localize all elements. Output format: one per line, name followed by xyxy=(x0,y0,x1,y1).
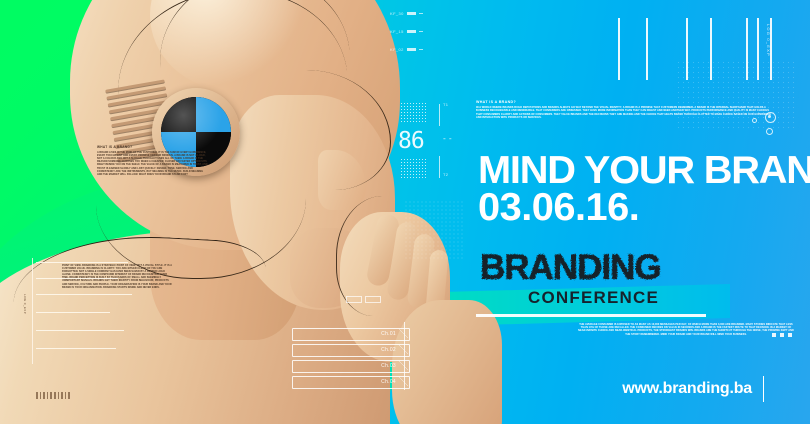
hud-tiny-rect-row xyxy=(346,296,381,303)
hud-channel-list: Ch.01 Ch.02 Ch.03 Ch.04 xyxy=(292,328,410,392)
roundel-quadrant-blue xyxy=(196,97,231,132)
hud-numeric-readout: 86 -- T1 T2 xyxy=(398,98,468,186)
conference-label: CONFERENCE xyxy=(528,288,659,308)
url-rule xyxy=(763,376,765,402)
hud-keyframe-label: KF_30 xyxy=(390,11,404,16)
channel-bar[interactable]: Ch.04 xyxy=(292,376,410,389)
hud-marker-t1: T1 xyxy=(443,102,448,107)
channel-bar[interactable]: Ch.02 xyxy=(292,344,410,357)
bottom-statistics-body: THE AVERAGE CONSUMER IS EXPOSED TO AS MA… xyxy=(578,323,794,336)
hud-tick xyxy=(419,13,423,14)
what-is-a-brand-block: WHAT IS A BRAND? IN A WORLD WHERE BRANDS… xyxy=(476,101,776,119)
channel-corner-cut xyxy=(398,329,409,338)
left-vertical-ruler: LOG 0_EXP xyxy=(32,258,140,364)
hud-keyframe-readout: KF_30 xyxy=(390,11,423,16)
what-is-a-brand-body: IN A WORLD WHERE BRANDS BUILD REPUTATION… xyxy=(476,106,776,119)
channel-bar[interactable]: Ch.01 xyxy=(292,328,410,341)
hud-vline xyxy=(439,104,440,126)
roundel-quadrant-black xyxy=(161,97,196,132)
hud-keyframe-readout: KF_15 xyxy=(390,29,423,34)
channel-corner-cut xyxy=(398,377,409,386)
hud-dot-grid xyxy=(400,158,428,178)
hud-readout-value: 86 xyxy=(398,128,424,154)
website-url[interactable]: www.branding.ba xyxy=(622,380,752,398)
left-micro-text-block: WHAT IS A BRAND? A BRAND LIVES IN THE MI… xyxy=(97,146,209,176)
bottom-left-dot-row xyxy=(36,392,70,399)
hud-tick xyxy=(419,31,423,32)
channel-label: Ch.02 xyxy=(381,347,396,353)
hud-keyframe-label: KF_15 xyxy=(390,29,404,34)
channel-corner-cut xyxy=(398,345,409,354)
hud-dot-grid xyxy=(400,102,428,122)
hud-bar xyxy=(407,12,416,15)
hud-vertical-label: LOG 0_EXP xyxy=(766,24,771,57)
hud-vline xyxy=(439,156,440,178)
bottom-statistics-block: THE AVERAGE CONSUMER IS EXPOSED TO AS MA… xyxy=(578,323,794,336)
hud-readout-dashes: -- xyxy=(442,134,454,143)
ruler-label: LOG 0_EXP xyxy=(23,294,27,314)
poster-canvas: WHAT IS A BRAND? A BRAND LIVES IN THE MI… xyxy=(0,0,810,424)
hud-keyframe-label: KF_02 xyxy=(390,47,404,52)
left-micro-heading: WHAT IS A BRAND? xyxy=(97,146,209,149)
channel-label: Ch.04 xyxy=(381,379,396,385)
left-micro-body: A BRAND LIVES IN THE MIND OF THE CUSTOME… xyxy=(97,151,209,176)
headline-line-2-date: 03.06.16. xyxy=(478,189,810,226)
channel-corner-cut xyxy=(398,361,409,370)
hud-faint-grid-right xyxy=(676,60,796,130)
hud-bar xyxy=(407,30,416,33)
channel-bar[interactable]: Ch.03 xyxy=(292,360,410,373)
branding-wordmark: BRANDING xyxy=(480,250,661,285)
hud-bar xyxy=(407,48,416,51)
white-rule-divider xyxy=(476,314,706,317)
what-is-a-brand-heading: WHAT IS A BRAND? xyxy=(476,101,776,104)
channel-label: Ch.01 xyxy=(381,331,396,337)
hud-vertical-tick-last xyxy=(757,18,759,80)
ruler-axis xyxy=(32,258,33,364)
hud-marker-t2: T2 xyxy=(443,172,448,177)
hud-faint-grid xyxy=(404,200,464,260)
channel-label: Ch.03 xyxy=(381,363,396,369)
hud-keyframe-readout: KF_02 xyxy=(390,47,423,52)
poster-headline: MIND YOUR BRAND 03.06.16. xyxy=(478,152,810,226)
hud-circle-marker-small xyxy=(766,128,773,135)
hud-tick xyxy=(419,49,423,50)
